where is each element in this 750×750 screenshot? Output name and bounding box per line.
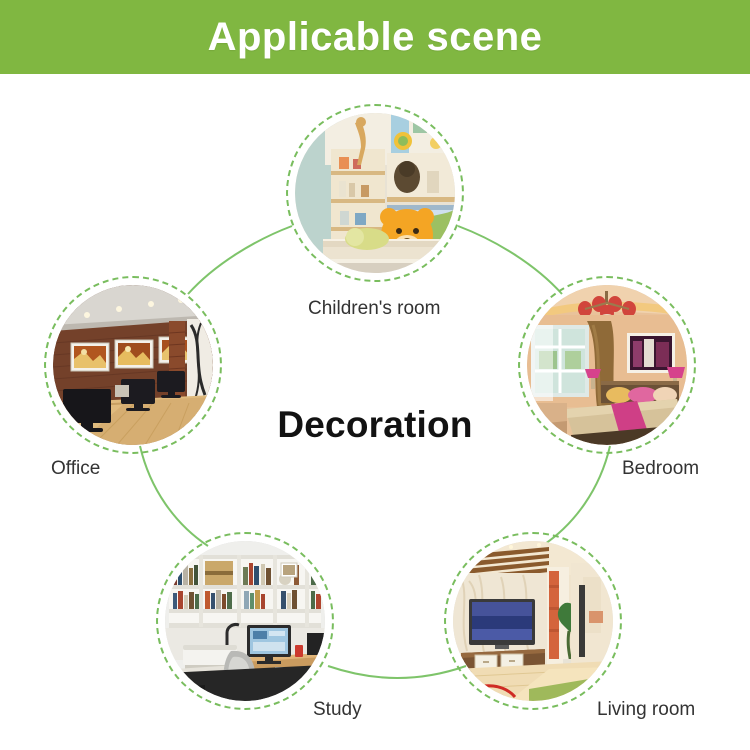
node-dashed-ring [518, 276, 696, 454]
diagram-stage: Decoration [0, 74, 750, 750]
node-living-room[interactable] [444, 532, 622, 710]
node-label-living-room: Living room [597, 699, 695, 721]
node-label-office: Office [51, 458, 100, 480]
page-title: Applicable scene [208, 15, 543, 60]
node-label-study: Study [313, 699, 362, 721]
node-dashed-ring [156, 532, 334, 710]
node-label-bedroom: Bedroom [622, 458, 699, 480]
header-banner: Applicable scene [0, 0, 750, 74]
node-dashed-ring [444, 532, 622, 710]
node-bedroom[interactable] [518, 276, 696, 454]
node-children-room[interactable] [286, 104, 464, 282]
node-dashed-ring [44, 276, 222, 454]
applicable-scene-infographic: Applicable scene Decoration [0, 0, 750, 750]
node-office[interactable] [44, 276, 222, 454]
node-dashed-ring [286, 104, 464, 282]
node-label-children-room: Children's room [308, 298, 440, 320]
node-study[interactable] [156, 532, 334, 710]
